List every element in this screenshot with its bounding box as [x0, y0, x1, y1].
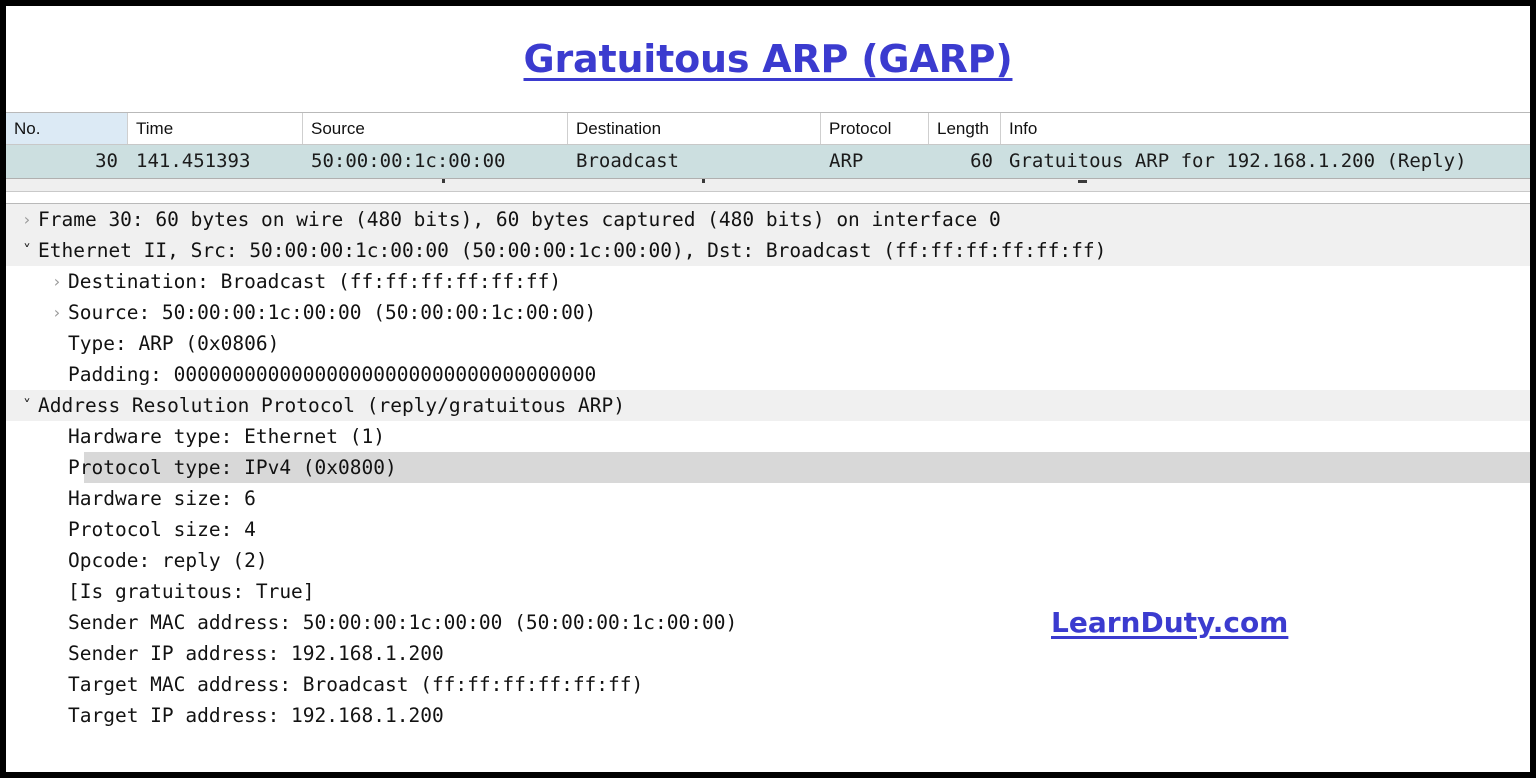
pane-divider[interactable]	[6, 192, 1530, 204]
detail-tree-row-label: Padding: 0000000000000000000000000000000…	[68, 359, 596, 390]
detail-tree-row-label: Target MAC address: Broadcast (ff:ff:ff:…	[68, 669, 643, 700]
chevron-right-icon[interactable]: ›	[16, 204, 38, 235]
detail-tree-row[interactable]: ˅Address Resolution Protocol (reply/grat…	[6, 390, 1530, 421]
detail-tree-row-label: Hardware type: Ethernet (1)	[68, 421, 385, 452]
watermark-link[interactable]: LearnDuty.com	[1051, 606, 1288, 639]
detail-tree-row[interactable]: Target IP address: 192.168.1.200	[6, 700, 1530, 731]
column-header-proto[interactable]: Protocol	[821, 113, 929, 144]
detail-tree-row[interactable]: Sender IP address: 192.168.1.200	[6, 638, 1530, 669]
chevron-down-icon[interactable]: ˅	[16, 390, 38, 421]
detail-tree-row[interactable]: ›Frame 30: 60 bytes on wire (480 bits), …	[6, 204, 1530, 235]
column-header-len[interactable]: Length	[929, 113, 1001, 144]
column-header-src[interactable]: Source	[303, 113, 568, 144]
detail-tree-row[interactable]: Opcode: reply (2)	[6, 545, 1530, 576]
detail-tree-row[interactable]: Protocol size: 4	[6, 514, 1530, 545]
detail-tree-row-label: Ethernet II, Src: 50:00:00:1c:00:00 (50:…	[38, 235, 1106, 266]
figure-title-bar: Gratuitous ARP (GARP)	[6, 6, 1530, 112]
detail-tree-row[interactable]: Padding: 0000000000000000000000000000000…	[6, 359, 1530, 390]
packet-list-clipped-row	[6, 178, 1530, 192]
detail-tree-row-label: Protocol type: IPv4 (0x0800)	[68, 452, 397, 483]
packet-cell-time: 141.451393	[128, 145, 303, 178]
row-tick-mark	[442, 179, 445, 183]
detail-tree-row[interactable]: ˅Ethernet II, Src: 50:00:00:1c:00:00 (50…	[6, 235, 1530, 266]
packet-list-header[interactable]: No.TimeSourceDestinationProtocolLengthIn…	[6, 113, 1530, 145]
detail-tree-row-label: Source: 50:00:00:1c:00:00 (50:00:00:1c:0…	[68, 297, 596, 328]
column-header-dst[interactable]: Destination	[568, 113, 821, 144]
detail-tree-row[interactable]: ›Source: 50:00:00:1c:00:00 (50:00:00:1c:…	[6, 297, 1530, 328]
detail-tree-row[interactable]: [Is gratuitous: True]	[6, 576, 1530, 607]
wireshark-capture-figure: Gratuitous ARP (GARP) No.TimeSourceDesti…	[0, 0, 1536, 778]
column-header-time[interactable]: Time	[128, 113, 303, 144]
detail-tree-row-label: Hardware size: 6	[68, 483, 256, 514]
detail-tree-row[interactable]: ›Destination: Broadcast (ff:ff:ff:ff:ff:…	[6, 266, 1530, 297]
packet-list-row-selected[interactable]: 30141.45139350:00:00:1c:00:00BroadcastAR…	[6, 145, 1530, 178]
row-tick-mark	[1078, 180, 1087, 183]
detail-tree-row[interactable]: Target MAC address: Broadcast (ff:ff:ff:…	[6, 669, 1530, 700]
page-title: Gratuitous ARP (GARP)	[524, 37, 1013, 81]
packet-detail-pane[interactable]: ›Frame 30: 60 bytes on wire (480 bits), …	[6, 204, 1530, 731]
detail-tree-row-label: Destination: Broadcast (ff:ff:ff:ff:ff:f…	[68, 266, 561, 297]
detail-tree-row-label: Opcode: reply (2)	[68, 545, 268, 576]
packet-cell-proto: ARP	[821, 145, 929, 178]
detail-tree-row-label: Address Resolution Protocol (reply/gratu…	[38, 390, 625, 421]
detail-tree-row[interactable]: Protocol type: IPv4 (0x0800)	[6, 452, 1530, 483]
detail-tree-row-label: Sender MAC address: 50:00:00:1c:00:00 (5…	[68, 607, 737, 638]
packet-list-pane[interactable]: No.TimeSourceDestinationProtocolLengthIn…	[6, 112, 1530, 192]
packet-cell-no: 30	[6, 145, 128, 178]
detail-tree-row[interactable]: Hardware size: 6	[6, 483, 1530, 514]
detail-tree-row[interactable]: Hardware type: Ethernet (1)	[6, 421, 1530, 452]
detail-tree-row[interactable]: Sender MAC address: 50:00:00:1c:00:00 (5…	[6, 607, 1530, 638]
packet-cell-dst: Broadcast	[568, 145, 821, 178]
detail-tree-row-label: Frame 30: 60 bytes on wire (480 bits), 6…	[38, 204, 1001, 235]
chevron-down-icon[interactable]: ˅	[16, 235, 38, 266]
detail-tree-row-label: Protocol size: 4	[68, 514, 256, 545]
detail-tree-row-label: Target IP address: 192.168.1.200	[68, 700, 444, 731]
packet-cell-info: Gratuitous ARP for 192.168.1.200 (Reply)	[1001, 145, 1530, 178]
column-header-no[interactable]: No.	[6, 113, 128, 144]
packet-cell-src: 50:00:00:1c:00:00	[303, 145, 568, 178]
chevron-right-icon[interactable]: ›	[46, 297, 68, 328]
detail-tree-row-label: [Is gratuitous: True]	[68, 576, 315, 607]
detail-tree-row-label: Sender IP address: 192.168.1.200	[68, 638, 444, 669]
packet-cell-len: 60	[929, 145, 1001, 178]
detail-tree-row[interactable]: Type: ARP (0x0806)	[6, 328, 1530, 359]
row-tick-mark	[702, 179, 705, 183]
detail-tree-row-label: Type: ARP (0x0806)	[68, 328, 279, 359]
chevron-right-icon[interactable]: ›	[46, 266, 68, 297]
column-header-info[interactable]: Info	[1001, 113, 1530, 144]
